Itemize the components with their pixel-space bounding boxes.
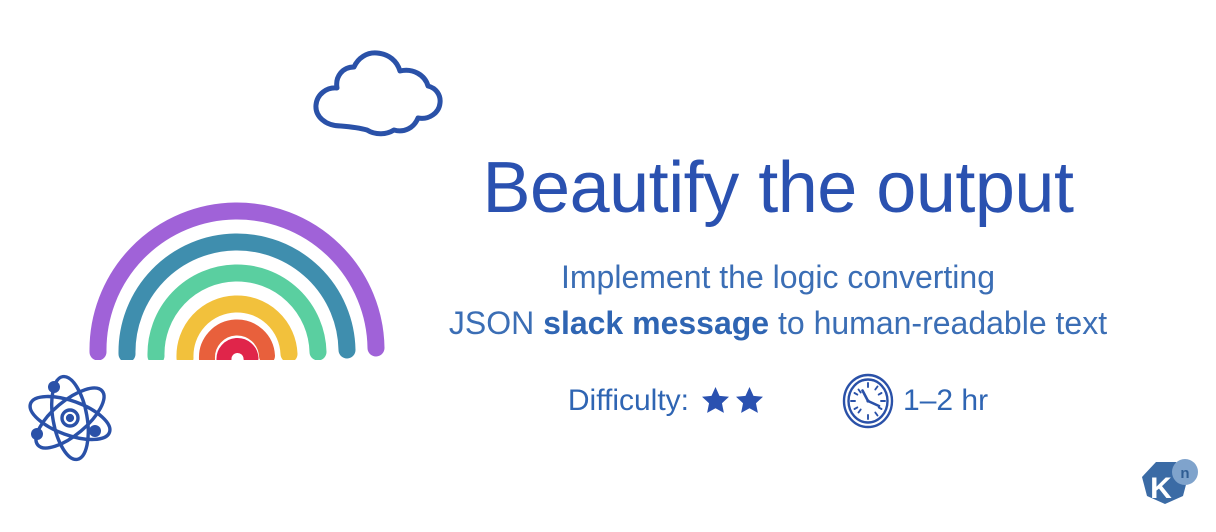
cloud-icon (305, 42, 445, 138)
difficulty-rating (699, 384, 766, 417)
clock-icon (842, 373, 894, 429)
difficulty-meta: Difficulty: (568, 384, 766, 418)
rainbow-arc-yellow (185, 304, 289, 358)
rainbow-arc-green (156, 273, 318, 356)
logo-letter-k: K (1150, 472, 1172, 505)
subtitle-block: Implement the logic converting JSON slac… (398, 254, 1158, 347)
rainbow-arc-teal (127, 242, 347, 354)
rainbow-arc-orange (207, 327, 267, 359)
atom-icon (18, 368, 122, 468)
star-icon (733, 384, 766, 417)
page-title: Beautify the output (398, 152, 1158, 224)
text-block: Beautify the output Implement the logic … (398, 152, 1158, 429)
duration-meta: 1–2 hr (842, 373, 988, 429)
logo-letter-n: n (1180, 465, 1189, 482)
rainbow-illustration (82, 188, 392, 360)
rainbow-arc-purple (98, 211, 376, 352)
subtitle-prefix: JSON (449, 305, 543, 341)
rainbow-arc-crimson (224, 345, 251, 360)
duration-label: 1–2 hr (903, 384, 988, 418)
difficulty-label: Difficulty: (568, 384, 689, 418)
meta-row: Difficulty: (398, 373, 1158, 429)
banner-root: Beautify the output Implement the logic … (0, 0, 1216, 532)
subtitle-strong: slack message (543, 305, 769, 341)
subtitle-line-1: Implement the logic converting (398, 254, 1158, 300)
subtitle-line-2: JSON slack message to human-readable tex… (398, 300, 1158, 346)
subtitle-suffix: to human-readable text (769, 305, 1107, 341)
star-icon (699, 384, 732, 417)
kn-logo[interactable]: K n (1134, 458, 1200, 518)
